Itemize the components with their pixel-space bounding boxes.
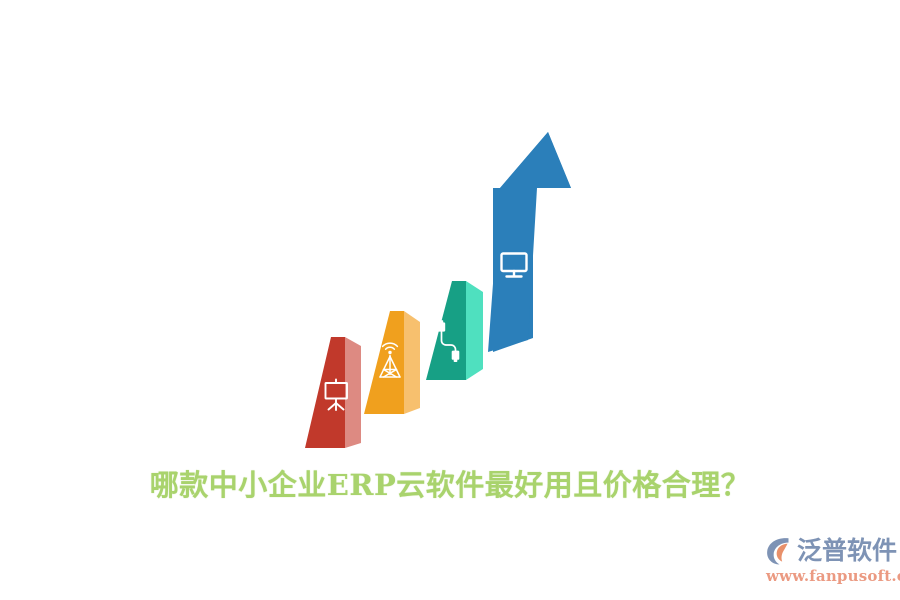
bar-3-side-face bbox=[466, 281, 483, 380]
usb-plug-right bbox=[452, 351, 460, 360]
brand-name: 泛普软件 bbox=[797, 536, 897, 566]
brand-url: www.fanpusoft.com bbox=[766, 567, 892, 585]
bar-2-front-face bbox=[364, 311, 404, 414]
bar-3-group bbox=[426, 281, 483, 380]
bar-2-group bbox=[364, 311, 420, 414]
bar-4-arrow-group bbox=[488, 132, 571, 352]
usb-plug-left bbox=[438, 322, 446, 331]
bar-2-side-face bbox=[404, 311, 420, 414]
page-title: 哪款中小企业ERP云软件最好用且价格合理？ bbox=[0, 462, 900, 504]
growth-arrow-illustration bbox=[0, 0, 900, 470]
brand-watermark: 泛普软件 www.fanpusoft.com bbox=[764, 534, 892, 590]
fanpu-logo-icon bbox=[764, 536, 794, 566]
brand-row: 泛普软件 bbox=[764, 534, 892, 568]
bar-1-group bbox=[305, 337, 361, 448]
usb-plug-left-tip bbox=[440, 320, 444, 323]
bar-3-front-face bbox=[426, 281, 466, 380]
poster-canvas: 哪款中小企业ERP云软件最好用且价格合理？ 泛普软件 www.fanpusoft… bbox=[0, 0, 900, 600]
usb-plug-right-tip bbox=[454, 359, 458, 362]
